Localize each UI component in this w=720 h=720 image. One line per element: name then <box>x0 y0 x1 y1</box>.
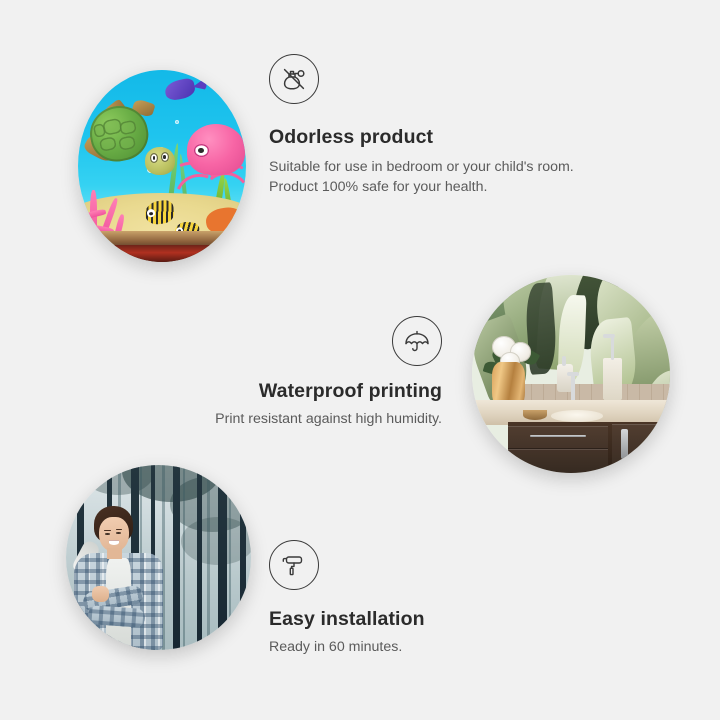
sea-floor-foreground <box>78 245 246 262</box>
no-odor-perfume-bottle-icon <box>269 54 319 104</box>
sea-turtle-illustration <box>86 103 180 180</box>
feature-description: Ready in 60 minutes. <box>269 637 589 657</box>
feature-waterproof: Waterproof printing Print resistant agai… <box>150 316 442 429</box>
hand <box>92 586 109 602</box>
towel <box>603 358 623 400</box>
woman-with-paint-roller <box>72 506 187 650</box>
feature-title: Waterproof printing <box>150 380 442 403</box>
feature-title: Odorless product <box>269 126 609 149</box>
arm <box>87 605 146 628</box>
soap-dish <box>523 410 547 420</box>
feature-description: Print resistant against high humidity. <box>150 409 442 429</box>
cabinet-handle[interactable] <box>621 429 627 459</box>
sink-faucet <box>571 374 575 402</box>
faucet-spout <box>603 334 615 337</box>
feature-easy-installation: Easy installation Ready in 60 minutes. <box>269 540 589 657</box>
bathroom-tropical-wallpaper-photo <box>472 275 670 473</box>
sink-faucet-spout <box>567 372 579 376</box>
octopus-head <box>187 124 245 176</box>
promo-feature-board: Odorless product Suitable for use in bed… <box>0 0 720 720</box>
feature-description: Suitable for use in bedroom or your chil… <box>269 157 599 197</box>
dispenser-pump <box>562 356 566 366</box>
feature-odorless: Odorless product Suitable for use in bed… <box>269 54 609 197</box>
drawer-handle[interactable] <box>530 435 585 437</box>
faucet-stem <box>611 334 614 360</box>
underwater-cartoon-scene-photo <box>78 70 246 262</box>
wood-vanity-cabinet <box>508 422 670 473</box>
feature-title: Easy installation <box>269 608 589 631</box>
umbrella-icon <box>392 316 442 366</box>
woman-paint-roller-forest-photo <box>66 465 251 650</box>
sink-basin <box>551 410 602 422</box>
neck <box>107 548 122 560</box>
paint-roller-icon <box>269 540 319 590</box>
